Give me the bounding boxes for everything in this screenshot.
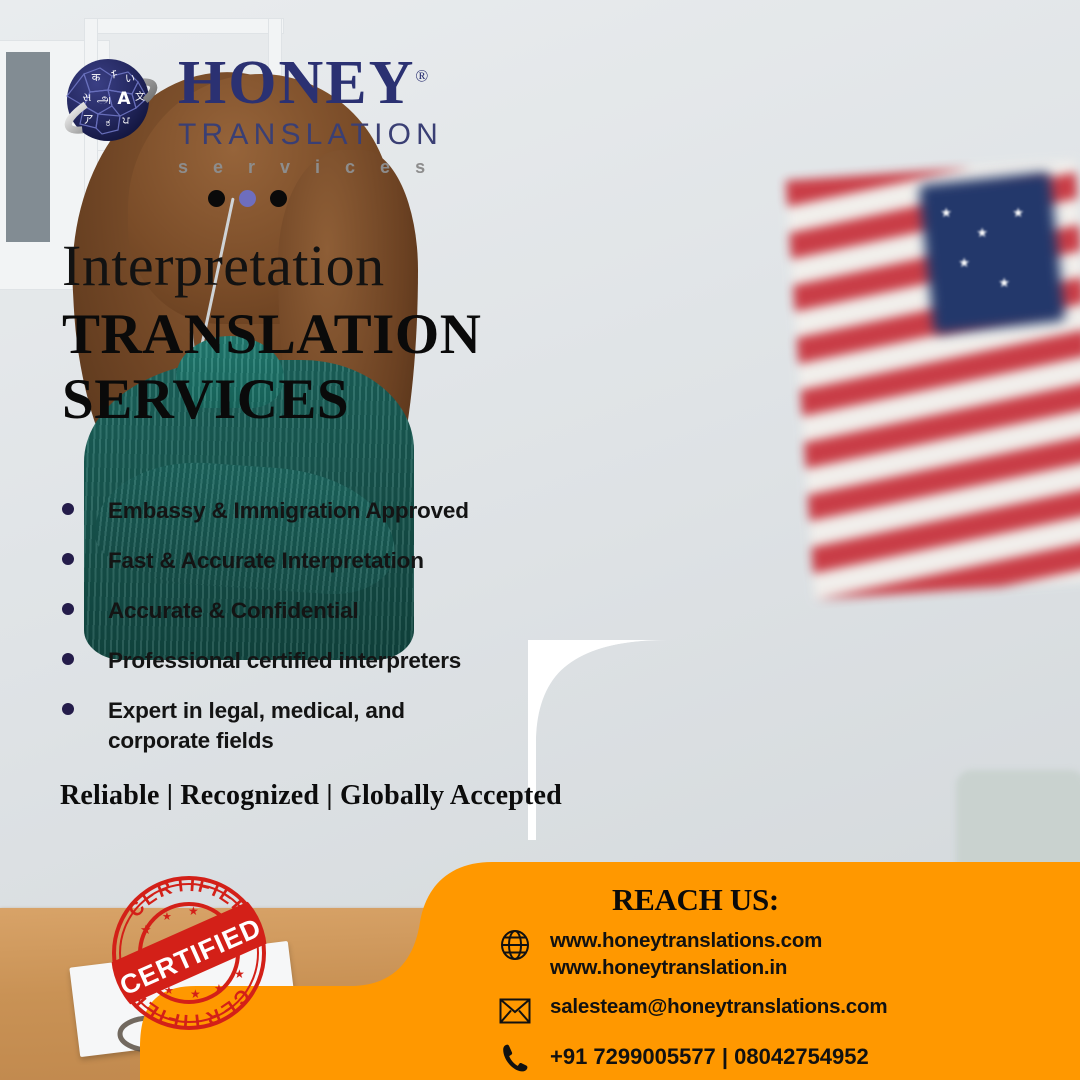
bullet-icon <box>62 603 74 615</box>
svg-text:文: 文 <box>135 90 145 103</box>
svg-text:★: ★ <box>140 922 152 937</box>
phone-icon <box>494 1039 536 1077</box>
page-title: Interpretation TRANSLATION SERVICES <box>62 236 532 433</box>
list-item: Accurate & Confidential <box>54 596 524 626</box>
website-line-2[interactable]: www.honeytranslation.in <box>550 956 787 979</box>
svg-text:ア: ア <box>83 113 94 126</box>
bullet-icon <box>62 653 74 665</box>
svg-text:★: ★ <box>162 911 172 923</box>
svg-text:સ: સ <box>83 91 92 104</box>
headline-bold-1: TRANSLATION <box>62 303 532 368</box>
decorative-dots <box>208 190 287 207</box>
bullet-icon <box>62 553 74 565</box>
contact-row-email[interactable]: salesteam@honeytranslations.com <box>494 992 1054 1030</box>
contact-heading: REACH US: <box>612 882 779 918</box>
brand-logo[interactable]: क ᠮ い સ அ A 文 ア ಕ ਪ HONEY® TRANSLATION s… <box>54 48 443 178</box>
list-item: Fast & Accurate Interpretation <box>54 546 524 576</box>
svg-text:ಕ: ಕ <box>106 116 111 129</box>
svg-text:ਪ: ਪ <box>121 114 130 127</box>
certified-stamp-icon: CERTIFIED CERTIFIED ★ ★ ★ ★ ★ ★ ★ ★ ★ ★ … <box>104 868 274 1038</box>
svg-text:ᠮ: ᠮ <box>111 69 118 82</box>
list-item-label: Fast & Accurate Interpretation <box>108 546 424 576</box>
envelope-icon <box>494 992 536 1030</box>
logo-name-secondary: TRANSLATION <box>178 116 443 154</box>
list-item: Embassy & Immigration Approved <box>54 496 524 526</box>
logo-name-primary: HONEY <box>178 49 415 117</box>
svg-text:★: ★ <box>188 904 199 918</box>
feature-list: Embassy & Immigration Approved Fast & Ac… <box>54 496 524 776</box>
headline-bold-2: SERVICES <box>62 368 532 433</box>
tagline: Reliable | Recognized | Globally Accepte… <box>60 780 562 812</box>
svg-text:A: A <box>117 89 131 109</box>
contact-website[interactable]: www.honeytranslations.com www.honeytrans… <box>536 926 822 981</box>
dot-1 <box>208 190 225 207</box>
contact-details: www.honeytranslations.com www.honeytrans… <box>494 926 1054 1080</box>
list-item: Professional certified interpreters <box>54 646 524 676</box>
globe-languages-icon: क ᠮ い સ அ A 文 ア ಕ ਪ <box>54 48 166 160</box>
list-item-label: Professional certified interpreters <box>108 646 461 676</box>
logo-name-tertiary: s e r v i c e s <box>178 157 443 178</box>
list-item-label: Embassy & Immigration Approved <box>108 496 469 526</box>
svg-text:★: ★ <box>190 987 201 1001</box>
svg-text:★: ★ <box>234 967 245 981</box>
bullet-icon <box>62 703 74 715</box>
contact-row-website[interactable]: www.honeytranslations.com www.honeytrans… <box>494 926 1054 981</box>
svg-text:அ: அ <box>97 92 111 107</box>
poster-canvas: ★ ★ ★ ★ ★ <box>0 0 1080 1080</box>
list-item-label: Accurate & Confidential <box>108 596 358 626</box>
contact-phone[interactable]: +91 7299005577 | 08042754952 <box>536 1039 869 1071</box>
list-item-label: Expert in legal, medical, and corporate … <box>108 696 448 756</box>
registered-trademark-icon: ® <box>415 66 430 85</box>
list-item: Expert in legal, medical, and corporate … <box>54 696 524 756</box>
dot-2 <box>239 190 256 207</box>
svg-text:い: い <box>125 74 135 85</box>
photo-shelf-dark <box>6 52 50 242</box>
dot-3 <box>270 190 287 207</box>
bullet-icon <box>62 503 74 515</box>
contact-email[interactable]: salesteam@honeytranslations.com <box>536 992 887 1020</box>
svg-text:★: ★ <box>214 983 224 995</box>
svg-text:क: क <box>92 71 101 84</box>
photo-shelf-board-1 <box>84 18 284 34</box>
headline-script: Interpretation <box>62 236 532 295</box>
website-line-1[interactable]: www.honeytranslations.com <box>550 929 822 952</box>
logo-wordmark: HONEY® <box>178 54 443 114</box>
contact-row-phone[interactable]: +91 7299005577 | 08042754952 <box>494 1039 1054 1077</box>
globe-icon <box>494 926 536 964</box>
